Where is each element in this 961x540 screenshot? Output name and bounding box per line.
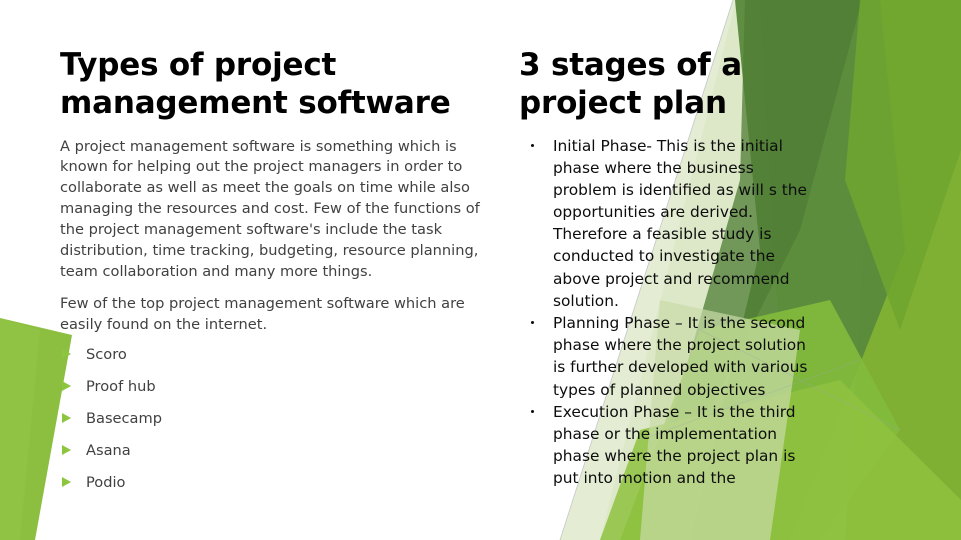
list-item: Basecamp: [60, 410, 505, 428]
list-item: Asana: [60, 442, 505, 460]
right-column-title: 3 stages of a project plan: [519, 47, 811, 123]
list-item: Initial Phase- This is the initial phase…: [519, 135, 811, 312]
phases-list: Initial Phase- This is the initial phase…: [519, 135, 811, 490]
list-item: Planning Phase – It is the second phase …: [519, 312, 811, 401]
list-item: Proof hub: [60, 378, 505, 396]
list-item-label: Scoro: [86, 346, 127, 363]
list-item: Scoro: [60, 346, 505, 364]
left-paragraph-2: Few of the top project management softwa…: [60, 294, 505, 336]
triangle-bullet-icon: [62, 477, 71, 487]
list-item: Execution Phase – It is the third phase …: [519, 401, 811, 490]
triangle-bullet-icon: [62, 381, 71, 391]
left-column-title: Types of project management software: [60, 47, 505, 123]
software-list: Scoro Proof hub Basecamp Asana Podio: [60, 346, 505, 492]
dot-bullet-icon: [531, 321, 534, 324]
list-item-label: Proof hub: [86, 378, 156, 395]
list-item-label: Planning Phase – It is the second phase …: [553, 314, 807, 399]
triangle-bullet-icon: [62, 413, 71, 423]
dot-bullet-icon: [531, 410, 534, 413]
list-item-label: Basecamp: [86, 410, 162, 427]
list-item-label: Podio: [86, 474, 125, 491]
triangle-bullet-icon: [62, 445, 71, 455]
list-item-label: Initial Phase- This is the initial phase…: [553, 137, 807, 310]
list-item: Podio: [60, 474, 505, 492]
presentation-slide: Types of project management software A p…: [0, 0, 961, 540]
dot-bullet-icon: [531, 144, 534, 147]
list-item-label: Execution Phase – It is the third phase …: [553, 403, 796, 488]
list-item-label: Asana: [86, 442, 131, 459]
left-paragraph-1: A project management software is somethi…: [60, 137, 505, 283]
right-content-column: 3 stages of a project plan Initial Phase…: [519, 47, 811, 489]
triangle-bullet-icon: [62, 349, 71, 359]
left-content-column: Types of project management software A p…: [60, 47, 505, 506]
